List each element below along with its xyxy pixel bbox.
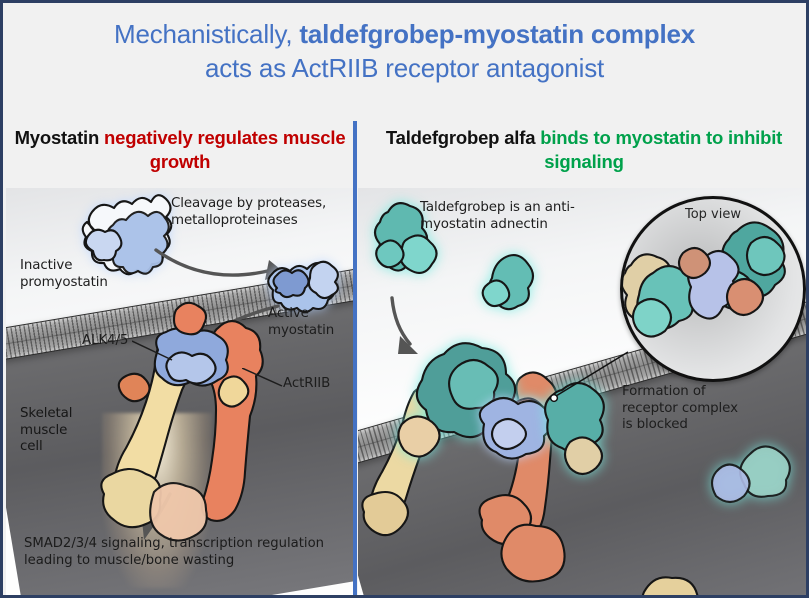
figure-root: Mechanistically, taldefgrobep-myostatin … (0, 0, 809, 598)
leader-actriib (242, 368, 286, 394)
label-actriib-text: ActRIIB (283, 376, 330, 391)
label-inactive-promyostatin-text: Inactive promyostatin (20, 258, 108, 290)
panel-heading-right: Taldefgrobep alfa binds to myostatin to … (363, 126, 805, 174)
inset-molecule-myostatin-core (675, 247, 765, 333)
panel-heading-right-colored: binds to myostatin to inhibit signaling (540, 127, 782, 172)
panel-heading-left-colored: negatively regulates muscle growth (104, 127, 345, 172)
title-lead: Mechanistically, (114, 19, 299, 49)
label-active-myostatin-text: Active myostatin (268, 306, 334, 338)
panel-divider (353, 121, 357, 596)
label-skeletal-muscle-cell: Skeletal muscle cell (20, 406, 72, 456)
label-actriib: ActRIIB (283, 376, 330, 393)
label-alk45: ALK4/5 (82, 333, 128, 350)
inset-top-view: Top view (620, 196, 806, 382)
caption-smad-signaling-text: SMAD2/3/4 signaling, transcription regul… (24, 536, 324, 568)
inset-label-top-view-text: Top view (685, 207, 741, 222)
molecule-salmon-nodule (494, 518, 574, 598)
label-skeletal-muscle-cell-text: Skeletal muscle cell (20, 406, 72, 454)
leader-alk45 (132, 338, 178, 366)
title-bold: taldefgrobep-myostatin complex (299, 19, 695, 49)
panel-right-taldefgrobep: Taldefgrobep is an anti- myostatin adnec… (358, 188, 809, 598)
label-active-myostatin: Active myostatin (268, 306, 334, 339)
label-formation-blocked: Formation of receptor complex is blocked (622, 384, 738, 434)
panel-left-myostatin-signaling: Inactive promyostatin Cleavage by protea… (6, 188, 355, 598)
molecule-adnectin-free-2 (478, 250, 544, 320)
molecule-complex-far-right (706, 440, 802, 512)
figure-title: Mechanistically, taldefgrobep-myostatin … (3, 17, 806, 85)
label-adnectin-text: Taldefgrobep is an anti- myostatin adnec… (420, 200, 575, 232)
label-alk45-text: ALK4/5 (82, 333, 128, 348)
label-inactive-promyostatin: Inactive promyostatin (20, 258, 108, 291)
panel-heading-left-black: Myostatin (15, 127, 104, 148)
panel-heading-left: Myostatin negatively regulates muscle gr… (11, 126, 349, 174)
panel-heading-right-black: Taldefgrobep alfa (386, 127, 540, 148)
molecule-tan-nodule (634, 572, 706, 598)
title-line-2: acts as ActRIIB receptor antagonist (205, 53, 604, 83)
label-cleavage-text: Cleavage by proteases, metalloproteinase… (171, 196, 326, 228)
label-cleavage: Cleavage by proteases, metalloproteinase… (171, 196, 326, 229)
label-adnectin: Taldefgrobep is an anti- myostatin adnec… (420, 200, 575, 233)
figure-header: Mechanistically, taldefgrobep-myostatin … (3, 3, 806, 188)
inset-label-top-view: Top view (623, 207, 803, 222)
label-formation-blocked-text: Formation of receptor complex is blocked (622, 384, 738, 432)
caption-smad-signaling: SMAD2/3/4 signaling, transcription regul… (24, 535, 324, 569)
